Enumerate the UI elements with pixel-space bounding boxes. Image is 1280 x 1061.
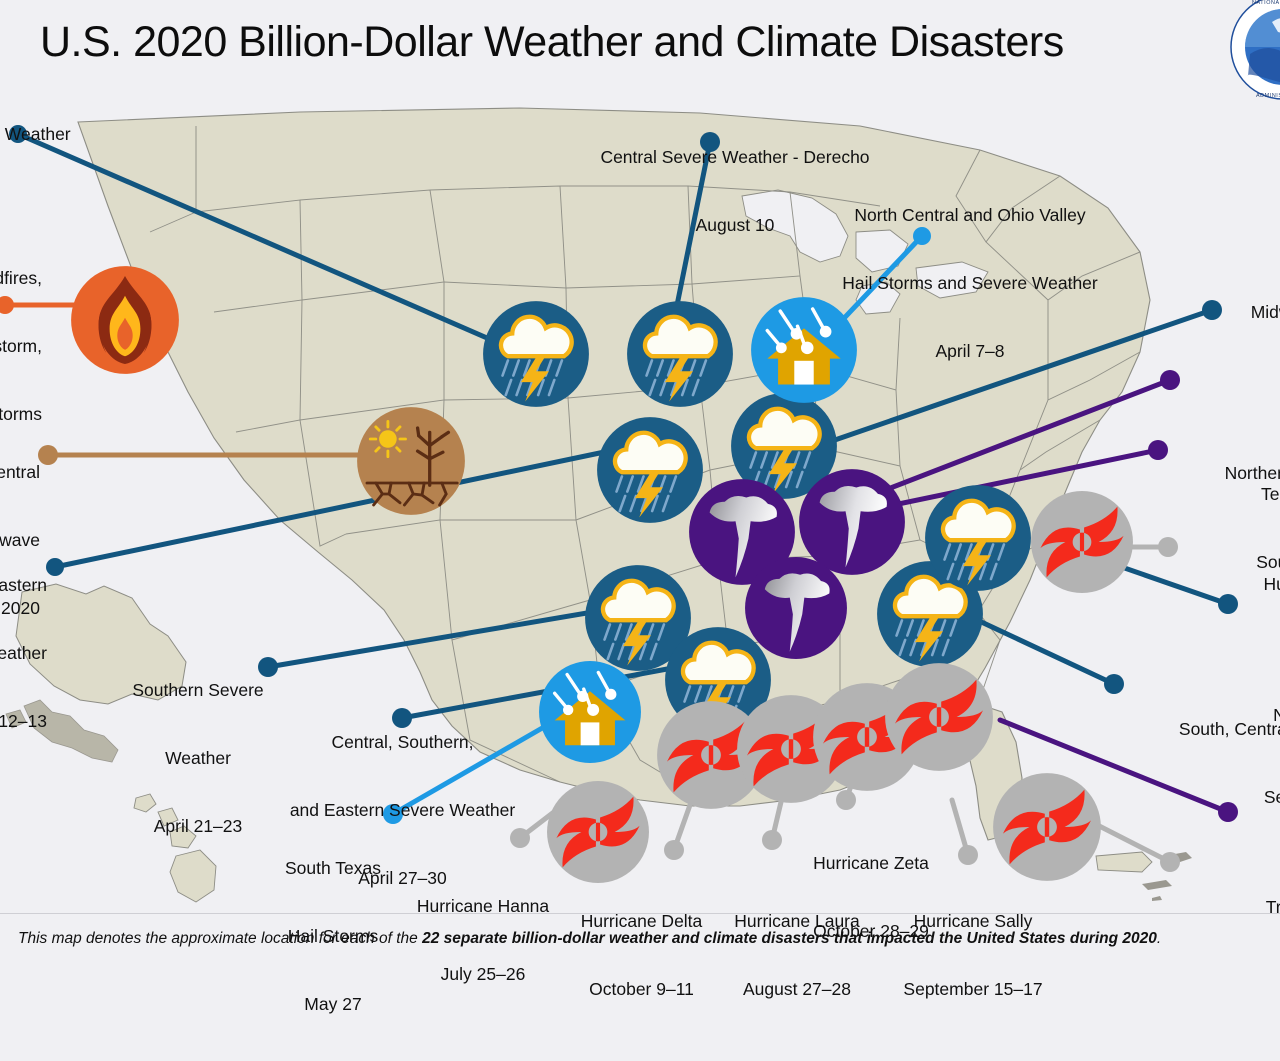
footnote-post: . [1157,930,1161,947]
noaa-seal: NATIONAL OCEANIC ADMINISTRATION [1228,0,1280,102]
footnote-bold: 22 separate billion-dollar weather and c… [422,930,1157,947]
label-south-eastern-severe-weather: South and Eastern Severe Weather April 1… [0,528,47,778]
icon-tornado-3[interactable] [744,556,848,660]
icon-drought-heatwave[interactable] [356,406,466,516]
leader-dot-hurricane-delta [664,840,684,860]
icon-hurricane-isaias[interactable] [1030,490,1134,594]
label-pacific-northwest: Pacific Northwest Severe Weather [0,100,45,168]
leader-dot-hurricane-isaias [1158,537,1178,557]
leader-dot-southeast-tornadoes [1160,370,1180,390]
leader-dot-south-central-eastern [1104,674,1124,694]
icon-severe-weather-7[interactable] [924,484,1032,592]
icon-severe-weather-derecho[interactable] [626,300,734,408]
leader-dot-tennessee-tornadoes [1148,440,1168,460]
svg-text:NATIONAL OCEANIC: NATIONAL OCEANIC [1252,0,1280,6]
icon-wildfire-western[interactable] [70,265,180,375]
leader-dot-hurricane-sally [958,845,978,865]
icon-severe-weather-1[interactable] [482,300,590,408]
label-north-central-ohio-hail: North Central and Ohio Valley Hail Storm… [820,158,1120,408]
label-hurricane-sally: Hurricane Sally September 15–17 [878,864,1068,1046]
svg-text:ADMINISTRATION: ADMINISTRATION [1256,93,1280,99]
footnote-pre: This map denotes the approximate locatio… [18,930,422,947]
page-title: U.S. 2020 Billion-Dollar Weather and Cli… [40,18,1064,67]
label-hurricane-delta: Hurricane Delta October 9–11 [554,864,729,1046]
icon-hurricane-sally[interactable] [884,662,994,772]
disaster-map-page: U.S. 2020 Billion-Dollar Weather and Cli… [0,0,1280,960]
leader-south-eastern [55,450,614,567]
leader-dot-south-eastern [46,558,64,576]
leader-dot-hurricane-laura [762,830,782,850]
footnote-divider [0,913,1280,914]
footnote: This map denotes the approximate locatio… [18,930,1262,948]
